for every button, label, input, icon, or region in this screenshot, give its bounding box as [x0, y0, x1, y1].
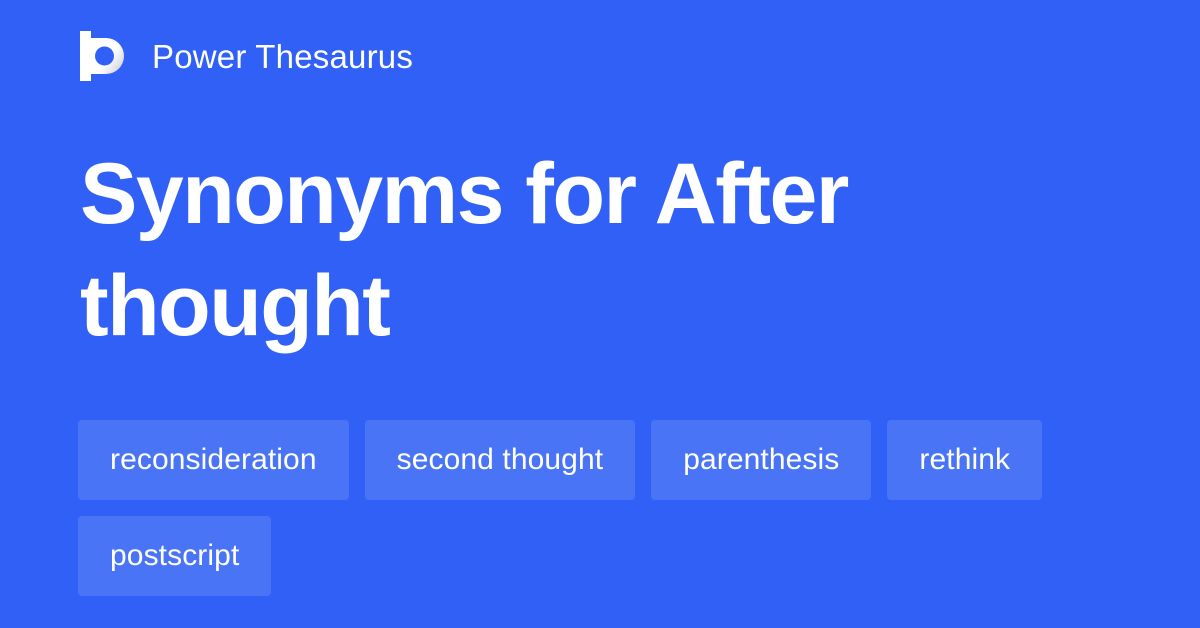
power-thesaurus-b-logo-icon: [80, 31, 130, 81]
synonym-chip[interactable]: reconsideration: [78, 420, 349, 500]
synonym-chip[interactable]: parenthesis: [651, 420, 871, 500]
page-title: Synonyms for After thought: [80, 138, 900, 362]
brand-header[interactable]: Power Thesaurus: [80, 28, 413, 84]
synonym-chip[interactable]: second thought: [365, 420, 636, 500]
synonym-chip[interactable]: rethink: [887, 420, 1042, 500]
brand-name: Power Thesaurus: [152, 40, 413, 73]
synonym-chip-list: reconsideration second thought parenthes…: [78, 420, 1118, 596]
synonym-chip[interactable]: postscript: [78, 516, 271, 596]
share-card: Power Thesaurus Synonyms for After thoug…: [0, 0, 1200, 628]
